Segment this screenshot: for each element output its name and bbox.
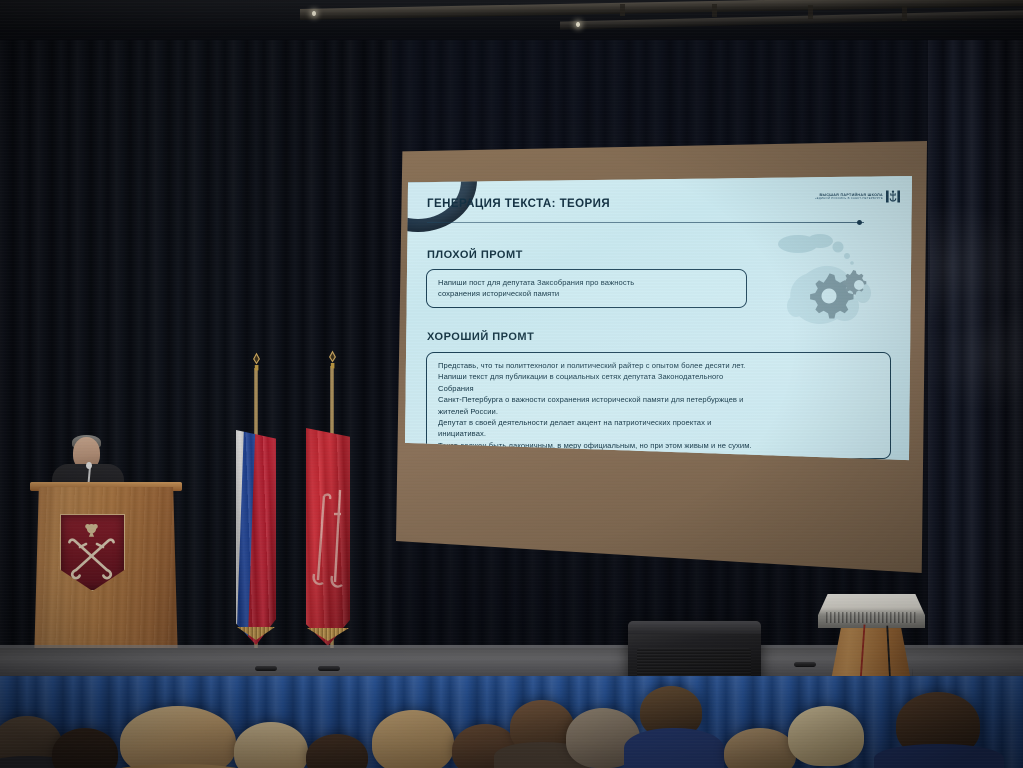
good-prompt-line: жителей России.: [438, 406, 879, 417]
flag-spb-fold-shading: [306, 428, 350, 646]
flag-russia-fold-shading: [236, 430, 276, 645]
school-logo: ВЫСШАЯ ПАРТИЙНАЯ ШКОЛА «ЕДИНОЙ РОССИИ» В…: [815, 190, 900, 203]
saint-petersburg-coat-of-arms-icon: [60, 514, 123, 589]
audience-head: [372, 710, 454, 768]
flag-finial-icon: [327, 350, 338, 369]
floor-monitor-unit: [794, 662, 816, 667]
truss-post: [620, 4, 625, 16]
audience-shoulders: [624, 728, 724, 768]
slide-canvas: ГЕНЕРАЦИЯ ТЕКСТА: ТЕОРИЯ ВЫСШАЯ ПАРТИЙНА…: [405, 176, 912, 463]
truss-post: [712, 4, 717, 17]
slide-title-rule: [427, 222, 864, 223]
truss-post: [808, 5, 813, 19]
podium-microphone-head: [86, 462, 92, 469]
truss-post: [902, 6, 907, 21]
stage-monitor-speaker-top: [628, 621, 761, 634]
ceiling-spot-light: [312, 11, 316, 16]
good-prompt-line: Санкт-Петербурга о важности сохранения и…: [438, 394, 879, 405]
section-heading-bad-prompt: ПЛОХОЙ ПРОМТ: [427, 249, 523, 261]
good-prompt-line: инициативах.: [438, 428, 879, 439]
good-prompt-line: Депутат в своей деятельности делает акце…: [438, 417, 879, 428]
bad-prompt-line: сохранения исторической памяти: [438, 288, 735, 299]
right-curtain-drape-highlight: [930, 150, 1023, 480]
conference-hall-photo: ГЕНЕРАЦИЯ ТЕКСТА: ТЕОРИЯ ВЫСШАЯ ПАРТИЙНА…: [0, 0, 1023, 768]
slide-title: ГЕНЕРАЦИЯ ТЕКСТА: ТЕОРИЯ: [427, 198, 610, 210]
floor-monitor-unit: [255, 666, 277, 671]
section-heading-good-prompt: ХОРОШИЙ ПРОМТ: [427, 331, 534, 343]
ceiling-spot-light: [576, 22, 580, 27]
school-logo-line2: «ЕДИНОЙ РОССИИ» В САНКТ-ПЕТЕРБУРГЕ: [815, 197, 883, 200]
audience-shoulders: [874, 744, 1004, 768]
bad-prompt-line: Напиши пост для депутата Заксобрания про…: [438, 277, 735, 288]
projector-vents: [826, 612, 916, 623]
audience-head: [788, 706, 864, 766]
floor-monitor-unit: [318, 666, 340, 671]
good-prompt-box: Представь, что ты политтехнолог и полити…: [426, 352, 891, 459]
good-prompt-line: Напиши текст для публикации в социальных…: [438, 371, 879, 382]
anchor-trident-mark-icon: [886, 190, 900, 203]
bad-prompt-box: Напиши пост для депутата Заксобрания про…: [426, 269, 747, 308]
projected-slide: ГЕНЕРАЦИЯ ТЕКСТА: ТЕОРИЯ ВЫСШАЯ ПАРТИЙНА…: [405, 176, 912, 463]
brain-gears-icon: [770, 230, 895, 355]
good-prompt-line: Собрания: [438, 383, 879, 394]
audience-head: [120, 706, 236, 768]
flag-finial-icon: [251, 352, 262, 371]
school-logo-text: ВЫСШАЯ ПАРТИЙНАЯ ШКОЛА «ЕДИНОЙ РОССИИ» В…: [815, 193, 883, 200]
good-prompt-line: Представь, что ты политтехнолог и полити…: [438, 360, 879, 371]
slide-title-end-dot: [857, 220, 862, 225]
